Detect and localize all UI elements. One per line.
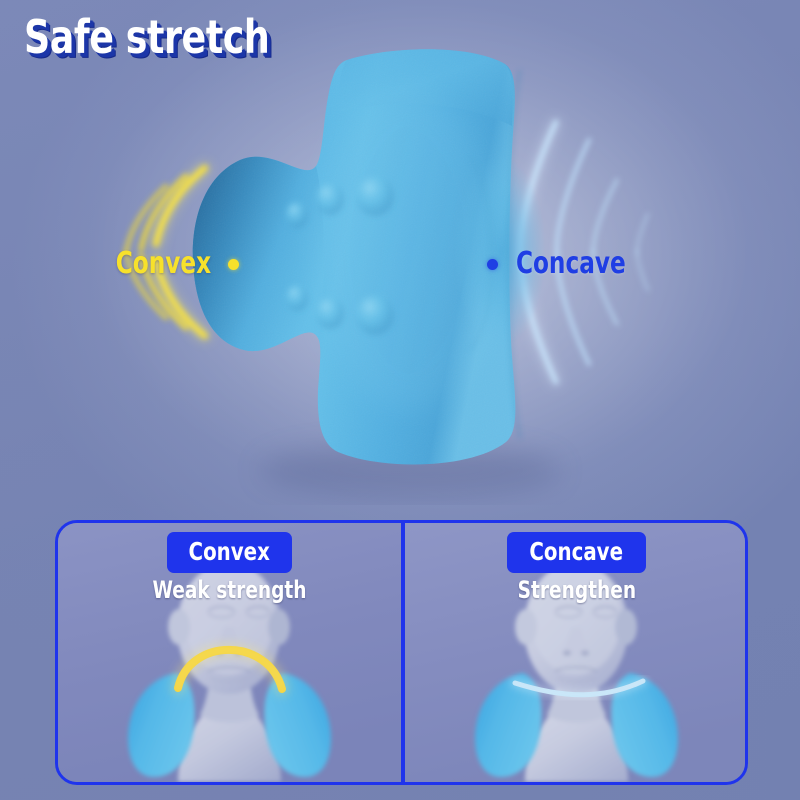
page-title: Safe stretch [24, 14, 269, 60]
callout-convex: Convex [108, 249, 239, 279]
comparison-cell-convex: Convex Weak strength [58, 523, 401, 782]
bullet-dot-icon [487, 259, 498, 270]
comparison-cell-concave: Concave Strengthen [405, 523, 748, 782]
hero-product-section: Convex Concave [0, 0, 800, 505]
comparison-panel: Convex Weak strength [55, 520, 748, 785]
callout-concave-label: Concave [516, 249, 626, 279]
callout-concave: Concave [487, 249, 635, 279]
callout-convex-label: Convex [116, 249, 211, 279]
bullet-dot-icon [228, 259, 239, 270]
convex-figure-illustration [58, 523, 401, 782]
product-marketing-image: Convex Concave Safe stretch [0, 0, 800, 800]
concave-figure-illustration [405, 523, 748, 782]
